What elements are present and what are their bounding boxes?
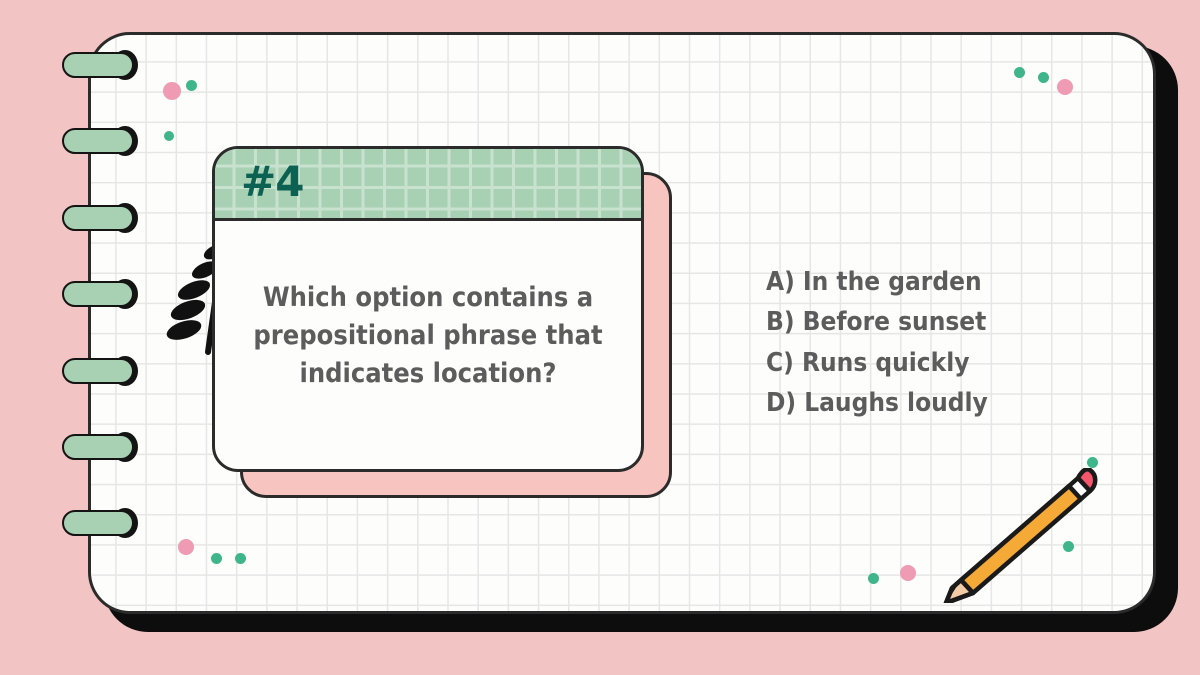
decor-dot-9 xyxy=(1057,79,1073,95)
spiral-ring-pill xyxy=(62,510,134,536)
spiral-ring-4 xyxy=(62,281,134,307)
decor-dot-5 xyxy=(211,553,222,564)
answer-options-list: A) In the gardenB) Before sunsetC) Runs … xyxy=(766,262,1066,423)
spiral-ring-pill xyxy=(62,434,134,460)
spiral-ring-2 xyxy=(62,128,134,154)
spiral-ring-pill xyxy=(62,205,134,231)
answer-option-d[interactable]: D) Laughs loudly xyxy=(766,383,1066,423)
decor-dot-2 xyxy=(186,80,197,91)
pencil-icon xyxy=(918,468,1108,603)
decor-dot-4 xyxy=(178,539,194,555)
card-header: #4 xyxy=(215,149,641,221)
spiral-ring-pill xyxy=(62,52,134,78)
answer-option-a[interactable]: A) In the garden xyxy=(766,262,1066,302)
question-number: #4 xyxy=(241,157,303,206)
spiral-ring-pill xyxy=(62,128,134,154)
question-card-stack: #4 Which option contains a prepositional… xyxy=(212,146,672,498)
decor-dot-3 xyxy=(164,131,174,141)
card-body: Which option contains a prepositional ph… xyxy=(215,221,641,469)
spiral-ring-pill xyxy=(62,358,134,384)
spiral-ring-5 xyxy=(62,358,134,384)
spiral-ring-pill xyxy=(62,281,134,307)
decor-dot-8 xyxy=(1038,72,1049,83)
decor-dot-12 xyxy=(868,573,879,584)
answer-option-b[interactable]: B) Before sunset xyxy=(766,302,1066,342)
spiral-ring-3 xyxy=(62,205,134,231)
answer-option-c[interactable]: C) Runs quickly xyxy=(766,343,1066,383)
spiral-ring-7 xyxy=(62,510,134,536)
spiral-ring-1 xyxy=(62,52,134,78)
question-text: Which option contains a prepositional ph… xyxy=(241,279,615,394)
decor-dot-7 xyxy=(1014,67,1025,78)
decor-dot-13 xyxy=(900,565,916,581)
decor-dot-6 xyxy=(235,553,246,564)
decor-dot-1 xyxy=(163,82,181,100)
decor-dot-10 xyxy=(1087,457,1098,468)
question-card: #4 Which option contains a prepositional… xyxy=(212,146,644,472)
spiral-ring-6 xyxy=(62,434,134,460)
